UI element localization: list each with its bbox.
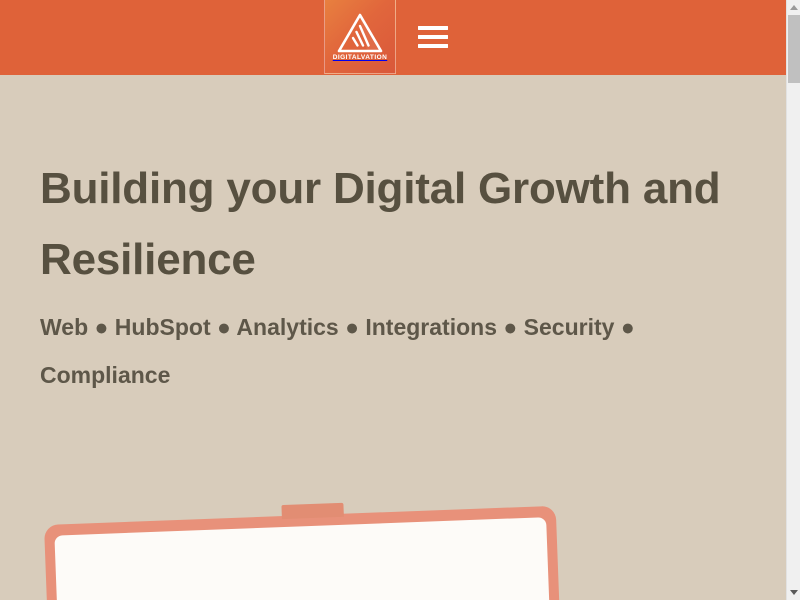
laptop-notch — [281, 503, 343, 519]
hero-subtitle: Web ● HubSpot ● Analytics ● Integrations… — [40, 303, 640, 399]
scrollbar-thumb[interactable] — [788, 15, 800, 83]
hero-graphic — [0, 490, 786, 600]
digitalvation-triangle-logo-icon — [337, 13, 383, 53]
logo-wordmark: DIGITALVATION — [333, 55, 387, 62]
menu-bar-middle — [418, 35, 448, 39]
scroll-down-button[interactable] — [787, 585, 800, 600]
menu-bar-top — [418, 26, 448, 30]
tilted-laptop-illustration — [44, 506, 567, 600]
menu-bar-bottom — [418, 44, 448, 48]
page-content: DIGITALVATION Building your Digital Grow… — [0, 0, 786, 600]
page-title: Building your Digital Growth and Resilie… — [40, 153, 746, 295]
laptop-screen — [54, 517, 556, 600]
chevron-down-icon — [790, 590, 798, 595]
hamburger-menu-icon[interactable] — [418, 24, 448, 50]
scroll-up-button[interactable] — [787, 0, 800, 15]
site-header: DIGITALVATION — [0, 0, 786, 75]
browser-viewport: DIGITALVATION Building your Digital Grow… — [0, 0, 800, 600]
chevron-up-icon — [790, 5, 798, 10]
vertical-scrollbar[interactable] — [786, 0, 800, 600]
laptop-frame — [44, 506, 567, 600]
site-logo-link[interactable]: DIGITALVATION — [324, 0, 396, 74]
hero-section: Building your Digital Growth and Resilie… — [0, 153, 786, 399]
